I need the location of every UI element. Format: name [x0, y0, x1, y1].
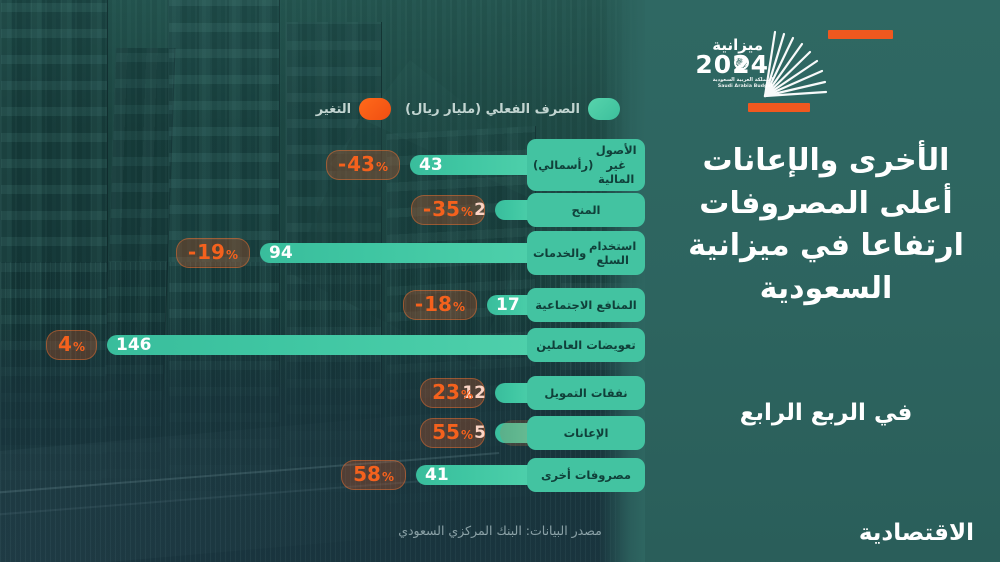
- saudi-budget-2024-logo: ميزانية 2024 المملكة العربية السعودية Sa…: [685, 34, 825, 100]
- change-sign: -: [338, 154, 346, 175]
- legend-item-actual: الصرف الفعلي (مليار ريال): [405, 98, 620, 120]
- category-label-line: تعويضات العاملين: [536, 338, 635, 352]
- category-label-line: الأصول غير المالية: [593, 143, 639, 186]
- change-badge: %43-: [326, 150, 400, 180]
- percent-symbol: %: [453, 301, 465, 314]
- orange-accent-bar-bottom: [748, 103, 810, 112]
- change-sign: -: [415, 294, 423, 315]
- change-value: 55: [432, 422, 460, 443]
- chart-row: الأصول غير المالية(رأسمالي)43%43-: [326, 150, 645, 180]
- chart-row: استخدام السلعوالخدمات94%19-: [176, 238, 645, 268]
- bar-chart: الأصول غير المالية(رأسمالي)43%43-المنح2%…: [0, 150, 1000, 490]
- change-value: 19: [197, 242, 225, 263]
- legend-item-change: التغير: [316, 98, 391, 120]
- category-label: الإعانات: [527, 416, 645, 450]
- change-badge: %23: [420, 378, 485, 408]
- category-label-line: والخدمات: [533, 246, 586, 260]
- category-label-line: المنافع الاجتماعية: [535, 298, 636, 312]
- chart-row: الإعانات5%55: [420, 418, 645, 448]
- infographic-canvas: ميزانية 2024 المملكة العربية السعودية Sa…: [0, 0, 1000, 562]
- bar-value-label: 146: [116, 337, 152, 354]
- category-label-line: نفقات التمويل: [544, 386, 627, 400]
- category-label-line: استخدام السلع: [586, 239, 639, 268]
- bar-value-label: 17: [496, 297, 520, 314]
- bar-value-label: 43: [419, 157, 443, 174]
- category-label: المنافع الاجتماعية: [527, 288, 645, 322]
- change-value: 4: [58, 334, 72, 355]
- logo-subtitle-english: Saudi Arabia Budget: [718, 84, 773, 89]
- change-value: 18: [424, 294, 452, 315]
- bar-value-label: 94: [269, 245, 293, 262]
- legend-label-actual: الصرف الفعلي (مليار ريال): [405, 102, 580, 117]
- logo-emblem-icon: [734, 55, 749, 70]
- category-label: المنح: [527, 193, 645, 227]
- orange-accent-bar-top: [828, 30, 893, 39]
- legend-label-change: التغير: [316, 102, 351, 117]
- change-badge: %58: [341, 460, 406, 490]
- change-value: 23: [432, 382, 460, 403]
- category-label-line: (رأسمالي): [533, 158, 593, 172]
- category-label-line: المنح: [572, 203, 601, 217]
- value-bar: 94: [260, 243, 537, 263]
- change-badge: %19-: [176, 238, 250, 268]
- category-label: استخدام السلعوالخدمات: [527, 231, 645, 275]
- value-bar: 41: [416, 465, 537, 485]
- change-badge: %55: [420, 418, 485, 448]
- value-bar: 146: [107, 335, 537, 355]
- category-label: الأصول غير المالية(رأسمالي): [527, 139, 645, 190]
- percent-symbol: %: [461, 206, 473, 219]
- category-label: مصروفات أخرى: [527, 458, 645, 492]
- chart-row: مصروفات أخرى41%58: [341, 460, 645, 490]
- legend-swatch-teal-icon: [588, 98, 620, 120]
- change-badge: %4: [46, 330, 97, 360]
- percent-symbol: %: [382, 471, 394, 484]
- change-value: 58: [353, 464, 381, 485]
- change-sign: -: [188, 242, 196, 263]
- chart-row: المنح2%35-: [411, 195, 645, 225]
- change-sign: -: [423, 199, 431, 220]
- category-label: تعويضات العاملين: [527, 328, 645, 362]
- chart-row: المنافع الاجتماعية17%18-: [403, 290, 645, 320]
- value-bar: 43: [410, 155, 537, 175]
- source-note: مصدر البيانات: البنك المركزي السعودي: [190, 523, 810, 538]
- change-badge: %35-: [411, 195, 485, 225]
- change-value: 43: [347, 154, 375, 175]
- percent-symbol: %: [376, 161, 388, 174]
- category-label-line: الإعانات: [564, 426, 609, 440]
- logo-year: 2024: [695, 50, 769, 79]
- chart-row: نفقات التمويل12%23: [420, 378, 645, 408]
- legend-swatch-orange-icon: [359, 98, 391, 120]
- chart-legend: الصرف الفعلي (مليار ريال) التغير: [316, 98, 620, 120]
- bar-value-label: 41: [425, 467, 449, 484]
- percent-symbol: %: [73, 341, 85, 354]
- change-value: 35: [432, 199, 460, 220]
- category-label-line: مصروفات أخرى: [541, 468, 631, 482]
- category-label: نفقات التمويل: [527, 376, 645, 410]
- outlet-logo-aleqtisadiah: الاقتصادية: [859, 520, 974, 546]
- chart-row: تعويضات العاملين146%4: [46, 330, 645, 360]
- percent-symbol: %: [226, 249, 238, 262]
- percent-symbol: %: [461, 389, 473, 402]
- percent-symbol: %: [461, 429, 473, 442]
- logo-subtitle-arabic: المملكة العربية السعودية: [713, 77, 773, 83]
- change-badge: %18-: [403, 290, 477, 320]
